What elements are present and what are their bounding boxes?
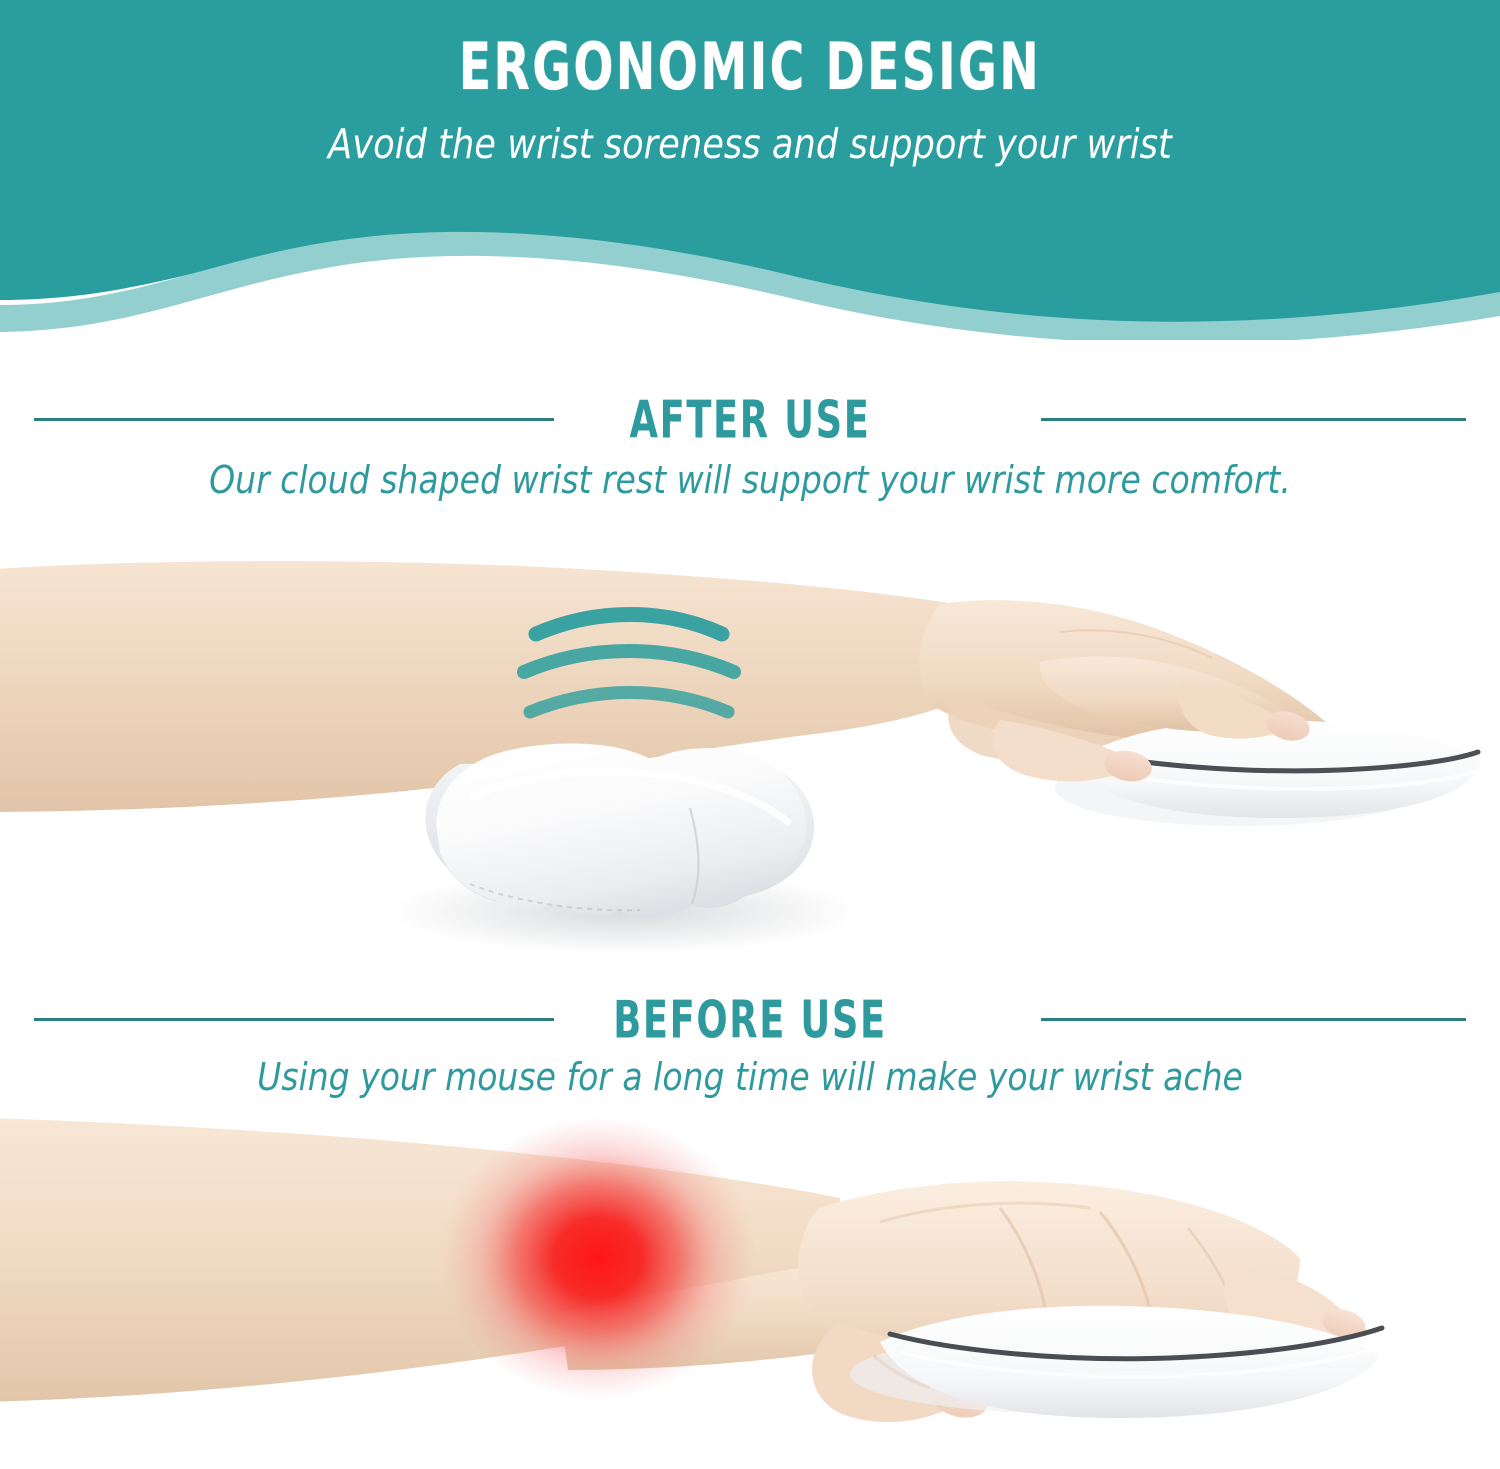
section-header-after-use: AFTER USE: [0, 388, 1500, 450]
section-title-after-use: AFTER USE: [150, 388, 1350, 452]
photo-before-use: [0, 1112, 1500, 1469]
photo-after-use: [0, 512, 1500, 972]
section-description-after-use: Our cloud shaped wrist rest will support…: [98, 460, 1403, 502]
wrist-rest-pad: [425, 744, 814, 917]
section-title-before-use: BEFORE USE: [150, 988, 1350, 1052]
pain-indicator-glow: [440, 1116, 756, 1400]
product-infographic: ERGONOMIC DESIGN Avoid the wrist sorenes…: [0, 0, 1500, 1469]
section-description-before-use: Using your mouse for a long time will ma…: [98, 1057, 1403, 1099]
page-title: ERGONOMIC DESIGN: [150, 34, 1350, 99]
header-banner: ERGONOMIC DESIGN Avoid the wrist sorenes…: [0, 0, 1500, 340]
before-use-illustration: [0, 1112, 1500, 1469]
after-use-illustration: [0, 512, 1500, 972]
section-header-before-use: BEFORE USE: [0, 988, 1500, 1050]
page-subtitle: Avoid the wrist soreness and support you…: [105, 122, 1395, 167]
